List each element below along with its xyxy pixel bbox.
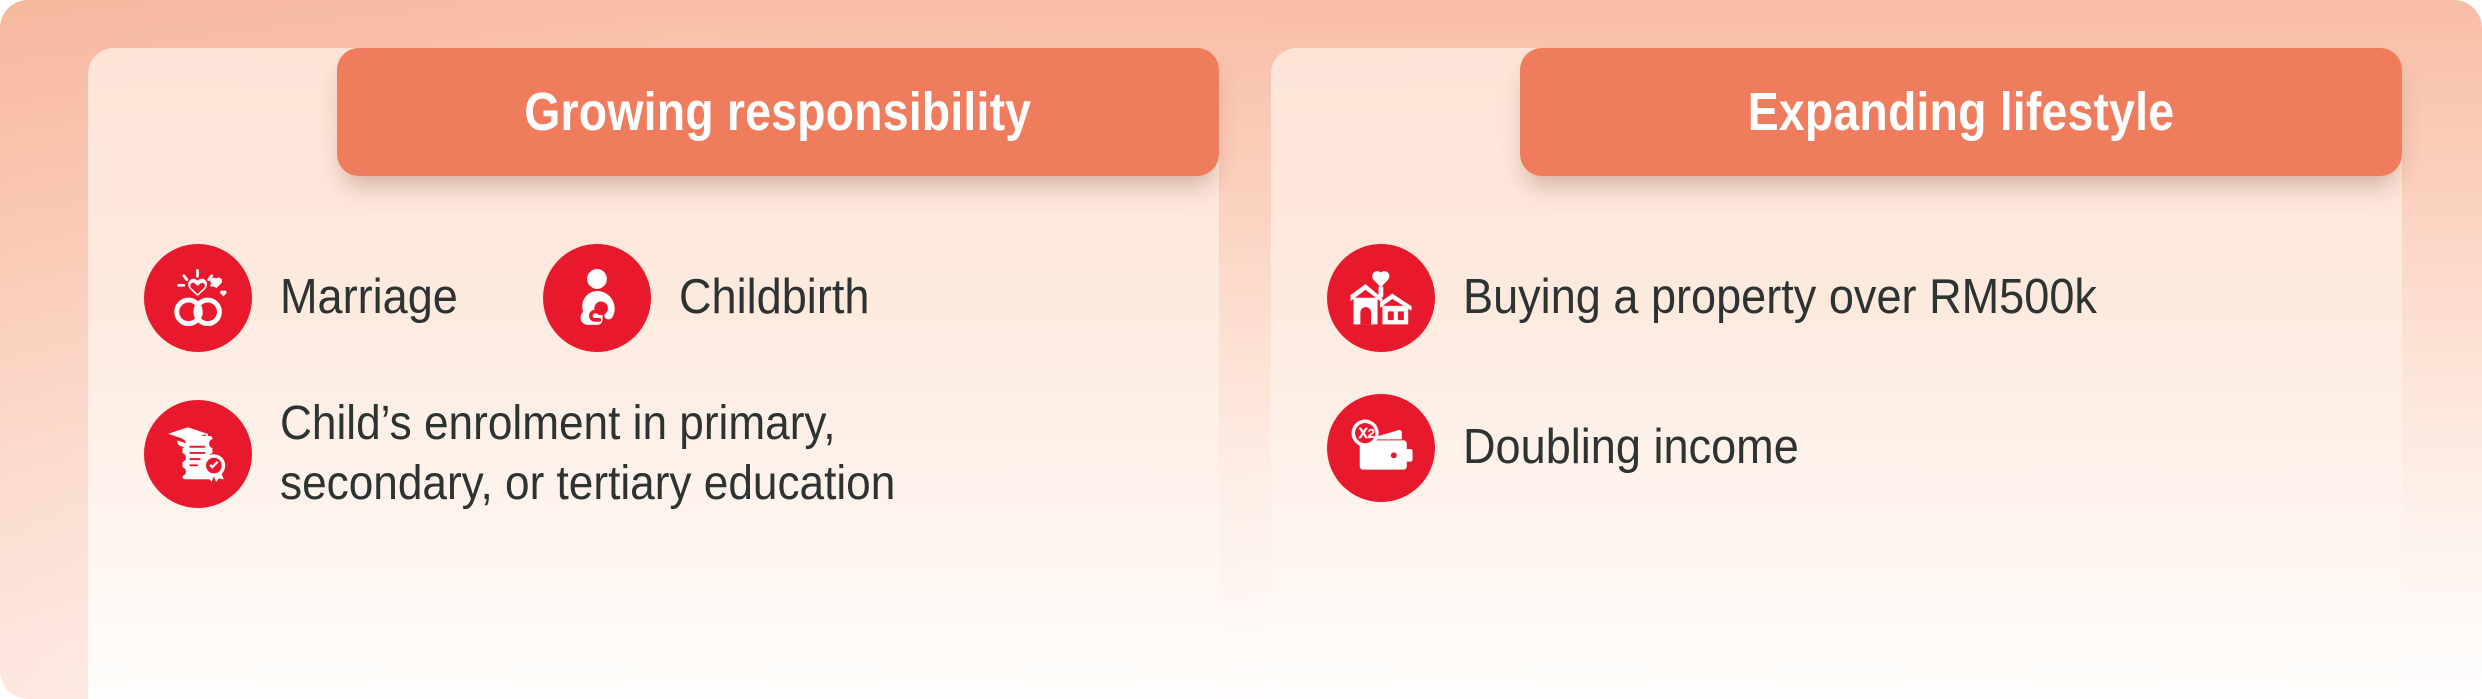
list-item-buying-property: Buying a property over RM500k <box>1327 244 2152 352</box>
list-item-childbirth: Childbirth <box>543 244 886 352</box>
wedding-rings-icon <box>144 244 252 352</box>
list-item-label: Doubling income <box>1463 417 1799 479</box>
wallet-x2-icon <box>1327 394 1435 502</box>
list-item-doubling-income: Doubling income <box>1327 394 1828 502</box>
card-expanding-lifestyle: Expanding lifestyle <box>1271 48 2402 699</box>
card-body-growing-responsibility: Marriage <box>88 176 1219 699</box>
item-row: Child’s enrolment in primary, secondary,… <box>144 394 1175 515</box>
item-row: Doubling income <box>1327 394 2358 502</box>
item-row: Marriage <box>144 244 1175 352</box>
card-title: Growing responsibility <box>524 85 1031 139</box>
card-growing-responsibility: Growing responsibility <box>88 48 1219 699</box>
list-item-label: Childbirth <box>679 267 869 329</box>
card-body-expanding-lifestyle: Buying a property over RM500k <box>1271 176 2402 699</box>
mother-and-baby-icon <box>543 244 651 352</box>
list-item-label: Buying a property over RM500k <box>1463 267 2097 329</box>
graduation-certificate-icon <box>144 400 252 508</box>
card-header-expanding-lifestyle: Expanding lifestyle <box>1520 48 2402 176</box>
item-row: Buying a property over RM500k <box>1327 244 2358 352</box>
card-title: Expanding lifestyle <box>1748 85 2174 139</box>
list-item-label: Marriage <box>280 267 458 329</box>
list-item-marriage: Marriage <box>144 244 473 352</box>
list-item-label: Child’s enrolment in primary, secondary,… <box>280 394 895 515</box>
list-item-education: Child’s enrolment in primary, secondary,… <box>144 394 949 515</box>
cards-container: Growing responsibility <box>0 0 2482 699</box>
house-with-heart-icon <box>1327 244 1435 352</box>
card-header-growing-responsibility: Growing responsibility <box>337 48 1219 176</box>
infographic-canvas: Growing responsibility <box>0 0 2482 699</box>
